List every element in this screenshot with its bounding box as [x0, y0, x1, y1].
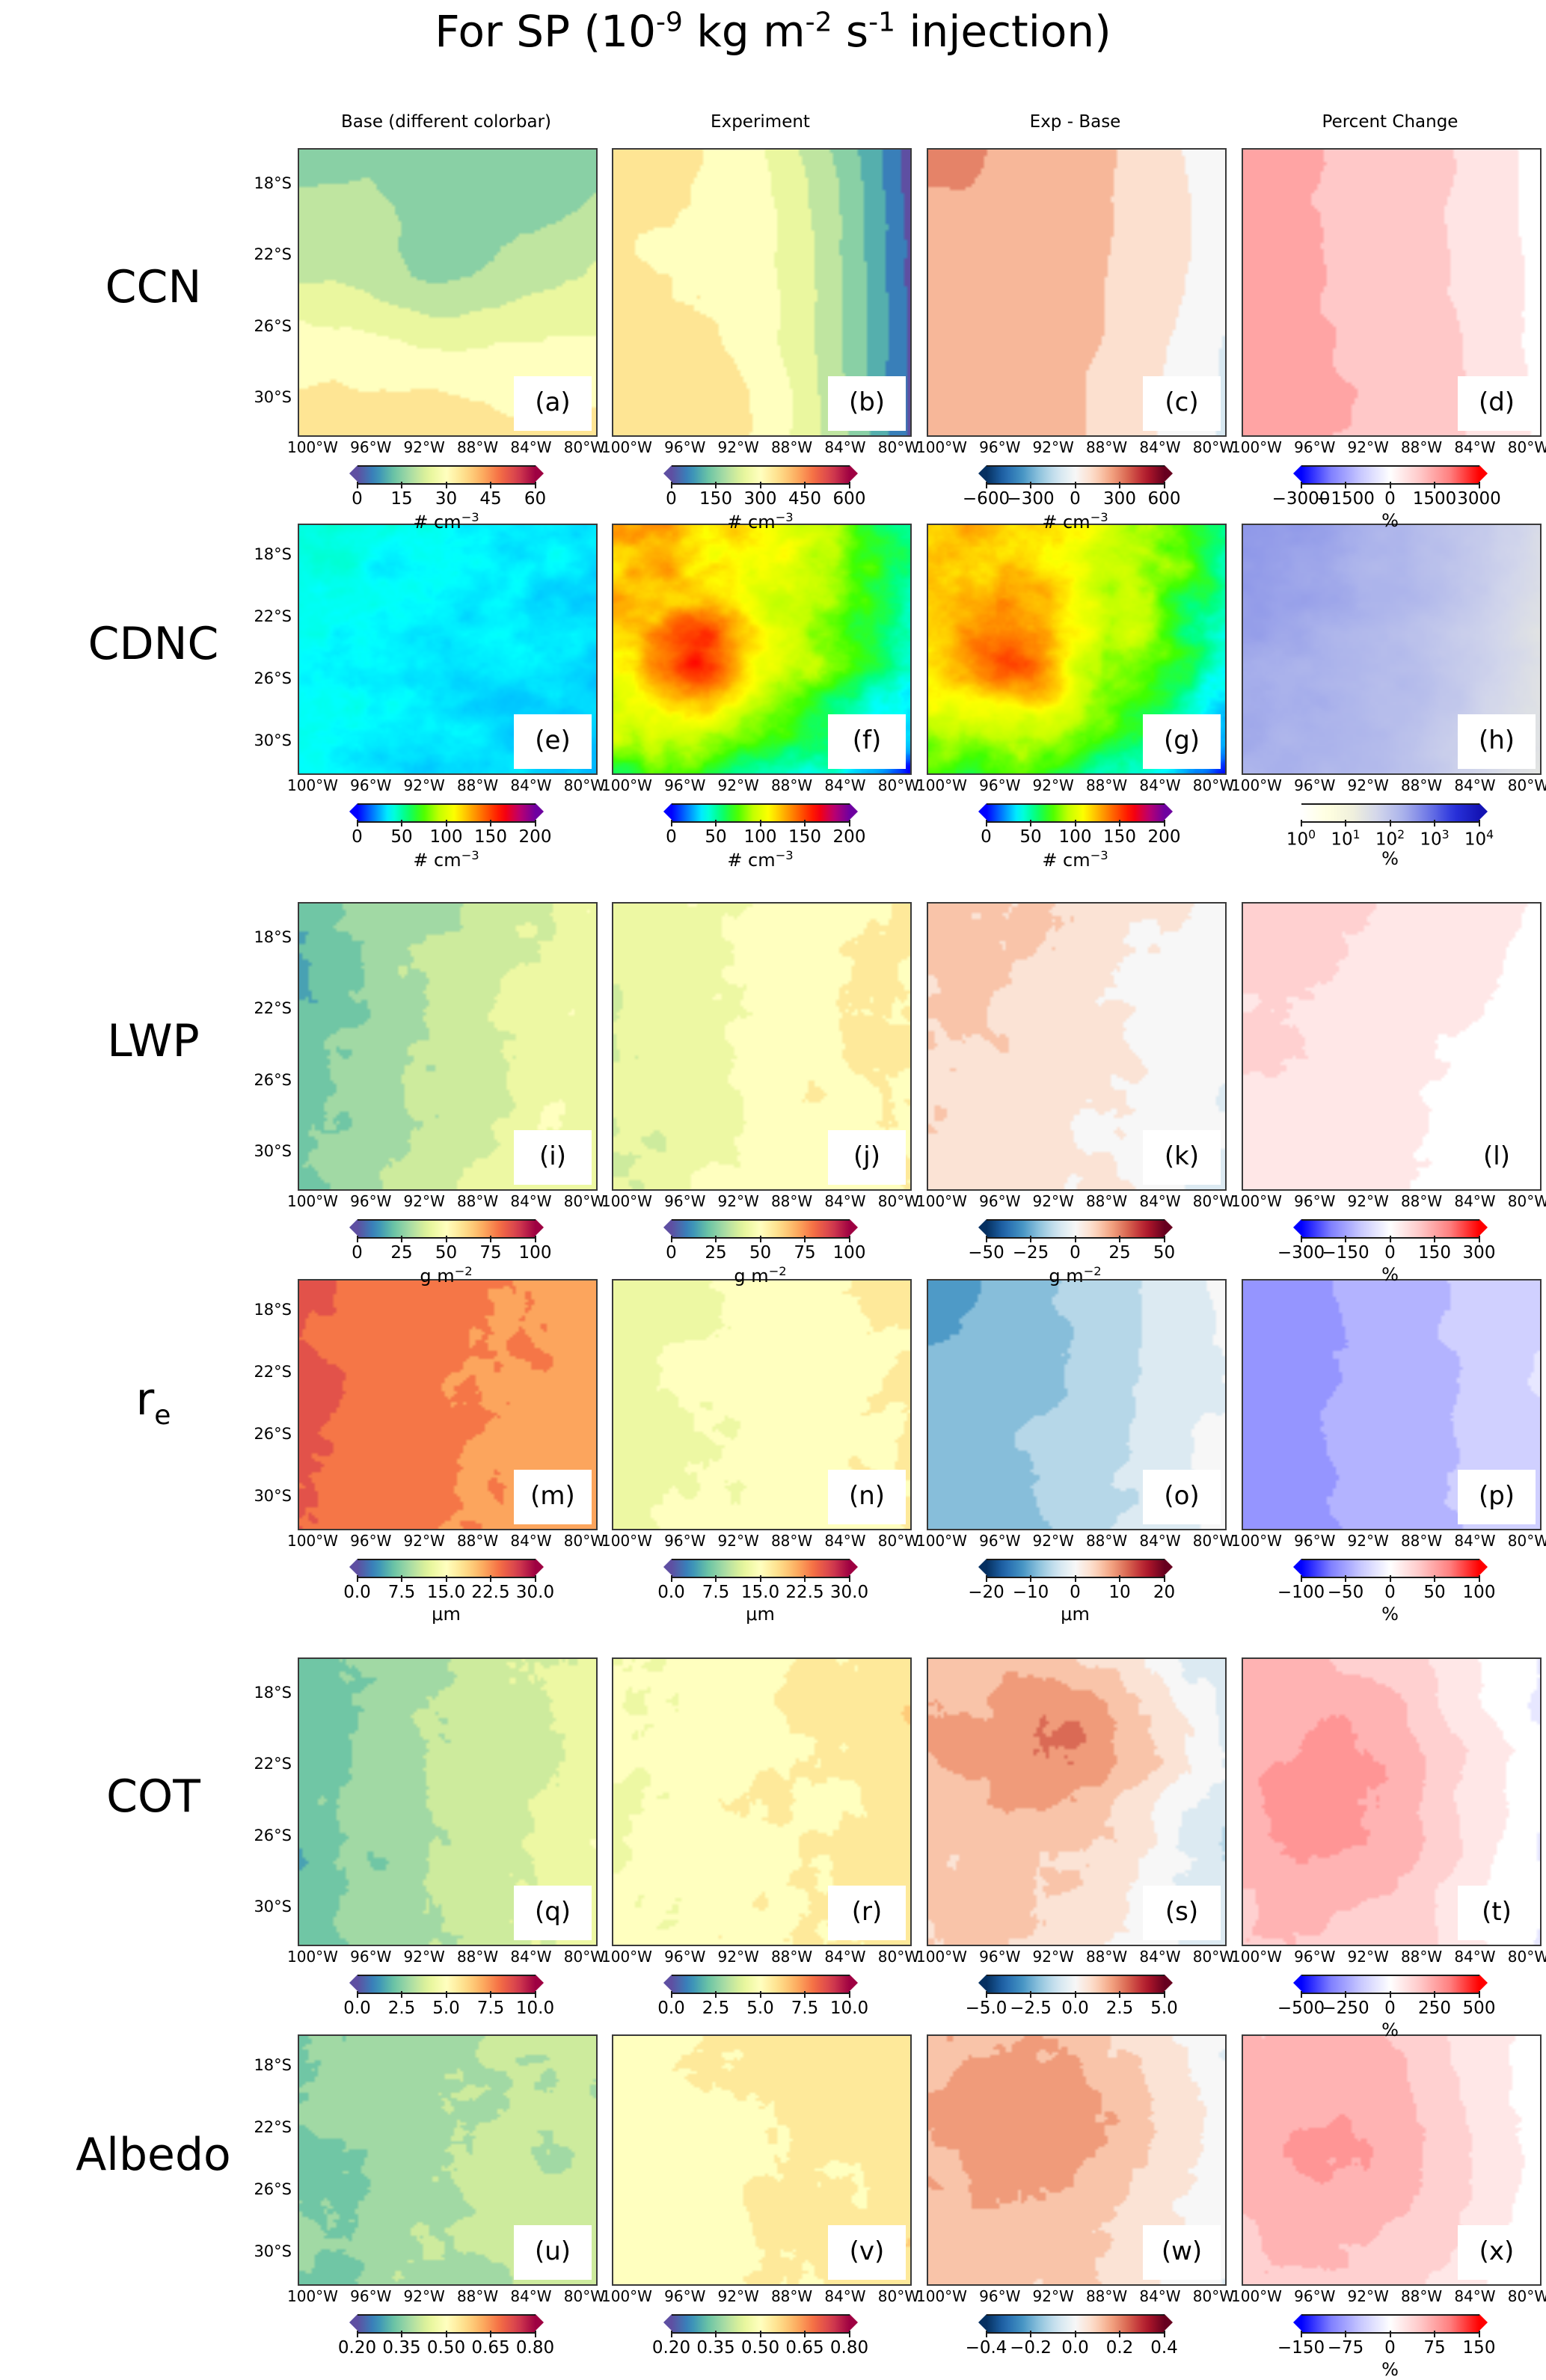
- x-tick-label: 96°W: [979, 1532, 1020, 1550]
- colorbar-ticks: [987, 482, 1165, 488]
- colorbar-ticks: [987, 1575, 1165, 1582]
- colorbar-tick-label: −250: [1322, 1999, 1369, 2018]
- x-tick-label: 96°W: [1294, 1948, 1335, 1966]
- colorbar-gradient: [978, 1975, 1173, 1991]
- colorbar-gradient: [349, 465, 544, 482]
- colorbar-tick-labels: −20−1001020: [948, 1583, 1203, 1602]
- colorbar-tick-label: −0.4: [966, 2338, 1007, 2358]
- colorbar-tick-label: 250: [1418, 1999, 1451, 2018]
- colorbar-albedo-pct: −150−75075150%: [1293, 2314, 1488, 2331]
- y-tick-label: 18°S: [229, 545, 292, 563]
- y-tick-label: 30°S: [229, 1898, 292, 1916]
- map-panel-j: (j): [612, 902, 912, 1191]
- colorbar-tick-label: 100: [1059, 827, 1092, 847]
- colorbar-extend-left: [663, 1975, 672, 1991]
- colorbar-extend-left: [349, 1559, 358, 1575]
- x-tick-label: 96°W: [350, 1192, 391, 1210]
- colorbar-extend-left: [663, 803, 672, 820]
- panel-tag-n: (n): [828, 1470, 906, 1524]
- colorbar-tick-label: 3000: [1457, 489, 1501, 509]
- x-tick-label: 84°W: [824, 438, 865, 456]
- x-tick-label: 80°W: [878, 2287, 919, 2305]
- x-tick-label: 100°W: [287, 438, 338, 456]
- x-tick-label: 80°W: [1193, 2287, 1234, 2305]
- x-tick-label: 80°W: [1193, 1192, 1234, 1210]
- x-tick-row: 100°W96°W92°W88°W84°W80°W: [916, 2287, 1234, 2305]
- x-tick-label: 88°W: [771, 776, 812, 794]
- x-tick-label: 92°W: [404, 438, 445, 456]
- x-tick-label: 84°W: [1454, 1948, 1495, 1966]
- x-tick-label: 84°W: [510, 438, 551, 456]
- colorbar-cot-base: 0.02.55.07.510.0: [349, 1975, 544, 1991]
- colorbar-gradient: [978, 2314, 1173, 2331]
- colorbar-tick-label: 20: [1153, 1583, 1175, 1602]
- colorbar-cdnc-base: 050100150200# cm−3: [349, 803, 544, 820]
- colorbar-tick-label: 0.65: [785, 2338, 823, 2358]
- colorbar-ticks: [358, 1236, 536, 1242]
- x-tick-label: 88°W: [771, 438, 812, 456]
- x-tick-label: 88°W: [457, 438, 498, 456]
- colorbar-tick-label: 150: [474, 827, 507, 847]
- panel-tag-m: (m): [514, 1470, 592, 1524]
- x-tick-label: 80°W: [878, 1192, 919, 1210]
- colorbar-extend-left: [349, 2314, 358, 2331]
- x-tick-label: 96°W: [350, 1948, 391, 1966]
- x-tick-label: 88°W: [1401, 2287, 1442, 2305]
- x-tick-label: 100°W: [601, 776, 652, 794]
- panel-tag-k: (k): [1143, 1130, 1221, 1185]
- colorbar-tick-label: −50: [1328, 1583, 1364, 1602]
- y-tick-label: 26°S: [229, 1425, 292, 1443]
- colorbar-tick-labels: −0.4−0.20.00.20.4: [948, 2338, 1203, 2358]
- colorbar-re-diff: −20−1001020μm: [978, 1559, 1173, 1575]
- row-label-cot: COT: [22, 1770, 284, 1823]
- colorbar-tick-label: 100: [430, 827, 463, 847]
- colorbar-re-pct: −100−50050100%: [1293, 1559, 1488, 1575]
- panel-tag-j: (j): [828, 1130, 906, 1185]
- colorbar-ticks: [358, 482, 536, 488]
- panel-tag-q: (q): [514, 1886, 592, 1940]
- colorbar-extend-left: [978, 465, 987, 482]
- x-tick-label: 92°W: [1033, 776, 1074, 794]
- colorbar-tick-label: 50: [1423, 1583, 1445, 1602]
- colorbar-tick-label: 30.0: [830, 1583, 868, 1602]
- colorbar-extend-right: [850, 465, 858, 482]
- panel-tag-p: (p): [1458, 1470, 1536, 1524]
- map-panel-r: (r): [612, 1657, 912, 1946]
- y-tick-label: 30°S: [229, 1487, 292, 1505]
- colorbar-extend-right: [1479, 465, 1488, 482]
- map-panel-e: (e): [298, 524, 598, 775]
- x-tick-label: 88°W: [1401, 1192, 1442, 1210]
- colorbar-extend-left: [663, 1559, 672, 1575]
- y-tick-label: 30°S: [229, 2242, 292, 2260]
- colorbar-tick-label: 200: [833, 827, 866, 847]
- colorbar-tick-label: 0: [352, 1243, 363, 1263]
- colorbar-tick-labels: 050100150200: [634, 827, 888, 847]
- x-tick-label: 100°W: [601, 1532, 652, 1550]
- colorbar-extend-right: [536, 803, 544, 820]
- map-panel-o: (o): [927, 1279, 1227, 1530]
- colorbar-tick-label: 0.2: [1106, 2338, 1134, 2358]
- x-tick-row: 100°W96°W92°W88°W84°W80°W: [1231, 776, 1546, 794]
- colorbar-ticks: [1301, 1236, 1479, 1242]
- x-tick-label: 92°W: [1348, 1948, 1389, 1966]
- x-tick-row: 100°W96°W92°W88°W84°W80°W: [916, 438, 1234, 456]
- y-tick-label: 30°S: [229, 388, 292, 406]
- panel-tag-l: (l): [1458, 1130, 1536, 1185]
- x-tick-row: 100°W96°W92°W88°W84°W80°W: [601, 776, 919, 794]
- colorbar-extend-right: [536, 1559, 544, 1575]
- colorbar-unit-label: # cm−3: [663, 510, 858, 533]
- colorbar-albedo-experiment: 0.200.350.500.650.80: [663, 2314, 858, 2331]
- colorbar-tick-labels: 0255075100: [319, 1243, 574, 1263]
- colorbar-albedo-diff: −0.4−0.20.00.20.4: [978, 2314, 1173, 2331]
- x-tick-label: 92°W: [1348, 438, 1389, 456]
- colorbar-cdnc-pct: 100101102103104%: [1293, 803, 1488, 820]
- colorbar-tick-label: 22.5: [785, 1583, 823, 1602]
- x-tick-label: 88°W: [457, 1532, 498, 1550]
- x-tick-row: 100°W96°W92°W88°W84°W80°W: [916, 1192, 1234, 1210]
- y-tick-label: 18°S: [229, 2056, 292, 2074]
- x-tick-label: 100°W: [1231, 1532, 1282, 1550]
- x-tick-label: 84°W: [510, 776, 551, 794]
- colorbar-tick-label: 0: [1384, 1583, 1396, 1602]
- map-panel-w: (w): [927, 2034, 1227, 2286]
- colorbar-extend-right: [1165, 803, 1173, 820]
- colorbar-ticks: [987, 1991, 1165, 1998]
- x-tick-label: 96°W: [664, 1192, 705, 1210]
- x-tick-label: 88°W: [1086, 776, 1127, 794]
- panel-tag-e: (e): [514, 714, 592, 769]
- colorbar-tick-labels: 0150300450600: [634, 489, 888, 509]
- x-tick-label: 96°W: [350, 438, 391, 456]
- colorbar-extend-left: [349, 1219, 358, 1236]
- colorbar-tick-labels: 050100150200: [319, 827, 574, 847]
- colorbar-tick-label: 10.0: [830, 1999, 868, 2018]
- colorbar-ticks: [358, 2331, 536, 2337]
- x-tick-label: 80°W: [878, 1948, 919, 1966]
- row-label-lwp: LWP: [22, 1015, 284, 1067]
- x-tick-label: 100°W: [287, 1532, 338, 1550]
- colorbar-tick-label: −0.2: [1010, 2338, 1052, 2358]
- colorbar-tick-labels: 050100150200: [948, 827, 1203, 847]
- panel-tag-b: (b): [828, 376, 906, 431]
- colorbar-tick-label: 2.5: [388, 1999, 416, 2018]
- colorbar-unit-label: μm: [978, 1604, 1173, 1625]
- figure-title: For SP (10-9 kg m-2 s-1 injection): [0, 6, 1546, 57]
- colorbar-extend-left: [1293, 1975, 1301, 1991]
- colorbar-tick-label: 300: [1463, 1243, 1496, 1263]
- x-tick-label: 80°W: [1193, 1532, 1234, 1550]
- x-tick-label: 96°W: [1294, 2287, 1335, 2305]
- x-tick-label: 84°W: [824, 1532, 865, 1550]
- x-tick-label: 80°W: [564, 1532, 605, 1550]
- colorbar-tick-label: 1500: [1413, 489, 1457, 509]
- colorbar-gradient: [349, 2314, 544, 2331]
- x-tick-label: 100°W: [287, 1192, 338, 1210]
- y-tick-label: 26°S: [229, 1827, 292, 1844]
- colorbar-ticks: [1301, 1991, 1479, 1998]
- y-tick-label: 30°S: [229, 1142, 292, 1160]
- colorbar-tick-label: 0.80: [830, 2338, 868, 2358]
- y-tick-label: 18°S: [229, 1684, 292, 1702]
- colorbar-tick-label: 0.65: [471, 2338, 509, 2358]
- colorbar-extend-right: [536, 465, 544, 482]
- column-header-experiment: Experiment: [612, 112, 909, 132]
- x-tick-label: 80°W: [1193, 776, 1234, 794]
- colorbar-gradient: [1293, 1559, 1488, 1575]
- colorbar-extend-left: [349, 465, 358, 482]
- x-tick-label: 92°W: [1033, 1532, 1074, 1550]
- row-label-ccn: CCN: [22, 261, 284, 313]
- colorbar-ticks: [987, 820, 1165, 826]
- colorbar-re-experiment: 0.07.515.022.530.0μm: [663, 1559, 858, 1575]
- colorbar-tick-label: 0.50: [741, 2338, 779, 2358]
- figure-root: For SP (10-9 kg m-2 s-1 injection)Base (…: [0, 0, 1546, 2375]
- colorbar-unit-label: %: [1293, 1604, 1488, 1625]
- y-tick-label: 30°S: [229, 732, 292, 749]
- x-tick-label: 84°W: [510, 1948, 551, 1966]
- colorbar-unit-label: %: [1293, 510, 1488, 531]
- colorbar-tick-labels: −300−1500150300: [1263, 1243, 1518, 1263]
- colorbar-tick-label: 50: [435, 1243, 457, 1263]
- x-tick-label: 88°W: [1086, 438, 1127, 456]
- colorbar-tick-label: −1500: [1316, 489, 1375, 509]
- map-panel-c: (c): [927, 148, 1227, 437]
- colorbar-unit-label: g m−2: [663, 1264, 858, 1286]
- x-tick-label: 100°W: [601, 438, 652, 456]
- panel-tag-c: (c): [1143, 376, 1221, 431]
- x-tick-label: 92°W: [1033, 438, 1074, 456]
- map-panel-h: (h): [1242, 524, 1542, 775]
- colorbar-gradient: [663, 803, 858, 820]
- colorbar-tick-label: 103: [1420, 827, 1449, 850]
- map-panel-u: (u): [298, 2034, 598, 2286]
- colorbar-ticks: [672, 2331, 850, 2337]
- x-tick-label: 92°W: [1033, 2287, 1074, 2305]
- colorbar-tick-labels: 0.07.515.022.530.0: [319, 1583, 574, 1602]
- x-tick-label: 96°W: [1294, 776, 1335, 794]
- x-tick-row: 100°W96°W92°W88°W84°W80°W: [916, 776, 1234, 794]
- x-tick-row: 100°W96°W92°W88°W84°W80°W: [1231, 2287, 1546, 2305]
- colorbar-extend-left: [978, 1559, 987, 1575]
- colorbar-ticks: [1301, 820, 1479, 826]
- x-tick-label: 100°W: [287, 1948, 338, 1966]
- x-tick-label: 80°W: [564, 1192, 605, 1210]
- colorbar-ticks: [672, 1236, 850, 1242]
- row-label-re: re: [22, 1373, 284, 1431]
- x-tick-row: 100°W96°W92°W88°W84°W80°W: [916, 1948, 1234, 1966]
- colorbar-extend-right: [1165, 1219, 1173, 1236]
- colorbar-unit-label: %: [1293, 848, 1488, 869]
- x-tick-label: 96°W: [979, 776, 1020, 794]
- column-header-base: Base (different colorbar): [298, 112, 595, 132]
- colorbar-ticks: [672, 1991, 850, 1998]
- panel-tag-g: (g): [1143, 714, 1221, 769]
- colorbar-tick-label: 0: [666, 489, 677, 509]
- row-label-cdnc: CDNC: [22, 618, 284, 670]
- x-tick-label: 100°W: [916, 1532, 967, 1550]
- colorbar-tick-label: 5.0: [746, 1999, 774, 2018]
- x-tick-label: 96°W: [979, 438, 1020, 456]
- x-tick-label: 100°W: [916, 1192, 967, 1210]
- map-panel-m: (m): [298, 1279, 598, 1530]
- x-tick-label: 96°W: [664, 1948, 705, 1966]
- colorbar-extend-left: [1293, 2314, 1301, 2331]
- colorbar-lwp-pct: −300−1500150300%: [1293, 1219, 1488, 1236]
- panel-tag-i: (i): [514, 1130, 592, 1185]
- x-tick-label: 92°W: [404, 2287, 445, 2305]
- x-tick-label: 88°W: [1401, 1948, 1442, 1966]
- colorbar-extend-left: [349, 803, 358, 820]
- colorbar-gradient: [1293, 803, 1488, 820]
- x-tick-row: 100°W96°W92°W88°W84°W80°W: [916, 1532, 1234, 1550]
- x-tick-label: 84°W: [1139, 1948, 1180, 1966]
- colorbar-tick-label: 100: [1463, 1583, 1496, 1602]
- colorbar-extend-right: [850, 1559, 858, 1575]
- colorbar-tick-label: 22.5: [471, 1583, 509, 1602]
- colorbar-tick-label: 50: [390, 827, 412, 847]
- x-tick-label: 96°W: [664, 2287, 705, 2305]
- colorbar-gradient: [1293, 1219, 1488, 1236]
- colorbar-extend-left: [663, 2314, 672, 2331]
- colorbar-tick-label: 600: [833, 489, 866, 509]
- colorbar-tick-label: 0: [1384, 1999, 1396, 2018]
- x-tick-label: 88°W: [1401, 776, 1442, 794]
- map-panel-t: (t): [1242, 1657, 1542, 1946]
- x-tick-label: 92°W: [1033, 1192, 1074, 1210]
- colorbar-tick-label: 0.0: [1061, 2338, 1089, 2358]
- colorbar-tick-label: 100: [744, 827, 777, 847]
- panel-tag-v: (v): [828, 2225, 906, 2280]
- map-panel-v: (v): [612, 2034, 912, 2286]
- colorbar-tick-label: 25: [705, 1243, 726, 1263]
- colorbar-extend-left: [978, 803, 987, 820]
- colorbar-tick-labels: 0.02.55.07.510.0: [319, 1999, 574, 2018]
- column-header-pct: Percent Change: [1242, 112, 1539, 132]
- colorbar-cdnc-experiment: 050100150200# cm−3: [663, 803, 858, 820]
- colorbar-tick-label: 0: [1384, 1243, 1396, 1263]
- panel-tag-t: (t): [1458, 1886, 1536, 1940]
- x-tick-label: 100°W: [287, 776, 338, 794]
- colorbar-tick-label: 150: [788, 827, 821, 847]
- x-tick-row: 100°W96°W92°W88°W84°W80°W: [601, 438, 919, 456]
- x-tick-label: 100°W: [1231, 438, 1282, 456]
- y-tick-label: 18°S: [229, 174, 292, 192]
- x-tick-label: 84°W: [1139, 2287, 1180, 2305]
- colorbar-tick-label: 0.0: [1061, 1999, 1089, 2018]
- colorbar-tick-labels: 100101102103104: [1263, 827, 1518, 847]
- colorbar-gradient: [978, 1559, 1173, 1575]
- y-tick-label: 22°S: [229, 1363, 292, 1381]
- x-tick-label: 84°W: [1139, 1532, 1180, 1550]
- x-tick-label: 92°W: [718, 438, 759, 456]
- colorbar-tick-label: 150: [1418, 1243, 1451, 1263]
- colorbar-tick-label: 0: [1070, 1583, 1081, 1602]
- colorbar-tick-label: 600: [1148, 489, 1181, 509]
- x-tick-row: 100°W96°W92°W88°W84°W80°W: [1231, 1532, 1546, 1550]
- panel-tag-f: (f): [828, 714, 906, 769]
- colorbar-extend-right: [850, 803, 858, 820]
- map-panel-l: (l): [1242, 902, 1542, 1191]
- colorbar-tick-label: −600: [963, 489, 1010, 509]
- colorbar-extend-right: [1479, 2314, 1488, 2331]
- colorbar-tick-label: 0: [1384, 2338, 1396, 2358]
- colorbar-tick-label: 0: [1070, 1243, 1081, 1263]
- x-tick-label: 92°W: [404, 776, 445, 794]
- x-tick-label: 100°W: [601, 1192, 652, 1210]
- x-tick-label: 100°W: [1231, 776, 1282, 794]
- x-tick-label: 100°W: [601, 2287, 652, 2305]
- colorbar-tick-label: 150: [1463, 2338, 1496, 2358]
- colorbar-tick-label: 15: [390, 489, 412, 509]
- colorbar-tick-label: −150: [1322, 1243, 1369, 1263]
- x-tick-label: 88°W: [1086, 1532, 1127, 1550]
- colorbar-ticks: [987, 1236, 1165, 1242]
- colorbar-tick-label: 0: [1384, 489, 1396, 509]
- x-tick-label: 84°W: [1139, 438, 1180, 456]
- colorbar-gradient: [663, 1975, 858, 1991]
- colorbar-cot-diff: −5.0−2.50.02.55.0: [978, 1975, 1173, 1991]
- x-tick-label: 88°W: [1401, 438, 1442, 456]
- x-tick-label: 96°W: [979, 1192, 1020, 1210]
- colorbar-lwp-base: 0255075100g m−2: [349, 1219, 544, 1236]
- map-panel-p: (p): [1242, 1279, 1542, 1530]
- colorbar-tick-labels: −150−75075150: [1263, 2338, 1518, 2358]
- colorbar-unit-label: %: [1293, 2019, 1488, 2040]
- x-tick-label: 100°W: [1231, 1192, 1282, 1210]
- colorbar-tick-label: 0.35: [382, 2338, 420, 2358]
- colorbar-tick-label: −300: [1007, 489, 1054, 509]
- colorbar-tick-label: 5.0: [1150, 1999, 1178, 2018]
- x-tick-label: 84°W: [510, 1532, 551, 1550]
- x-tick-label: 88°W: [771, 1948, 812, 1966]
- x-tick-label: 92°W: [404, 1192, 445, 1210]
- colorbar-tick-label: 150: [1103, 827, 1136, 847]
- x-tick-label: 100°W: [916, 2287, 967, 2305]
- x-tick-label: 96°W: [664, 438, 705, 456]
- colorbar-ticks: [358, 820, 536, 826]
- x-tick-label: 100°W: [916, 776, 967, 794]
- colorbar-tick-label: 0.50: [427, 2338, 465, 2358]
- colorbar-tick-label: 2.5: [702, 1999, 730, 2018]
- map-panel-b: (b): [612, 148, 912, 437]
- colorbar-gradient: [1293, 2314, 1488, 2331]
- x-tick-row: 100°W96°W92°W88°W84°W80°W: [287, 1948, 605, 1966]
- colorbar-gradient: [663, 1219, 858, 1236]
- colorbar-extend-right: [536, 1975, 544, 1991]
- colorbar-tick-label: −75: [1328, 2338, 1364, 2358]
- colorbar-gradient: [978, 1219, 1173, 1236]
- colorbar-gradient: [978, 803, 1173, 820]
- colorbar-tick-label: 50: [705, 827, 726, 847]
- colorbar-tick-label: −150: [1277, 2338, 1325, 2358]
- colorbar-tick-labels: −500−2500250500: [1263, 1999, 1518, 2018]
- colorbar-unit-label: # cm−3: [349, 510, 544, 533]
- y-tick-label: 22°S: [229, 607, 292, 625]
- colorbar-tick-label: −25: [1013, 1243, 1049, 1263]
- colorbar-tick-label: 104: [1464, 827, 1494, 850]
- colorbar-tick-label: −100: [1277, 1583, 1325, 1602]
- colorbar-tick-labels: 015304560: [319, 489, 574, 509]
- x-tick-label: 84°W: [824, 2287, 865, 2305]
- colorbar-ticks: [672, 482, 850, 488]
- x-tick-label: 92°W: [718, 1192, 759, 1210]
- x-tick-label: 96°W: [664, 1532, 705, 1550]
- colorbar-tick-label: 25: [1108, 1243, 1130, 1263]
- colorbar-tick-label: 150: [699, 489, 732, 509]
